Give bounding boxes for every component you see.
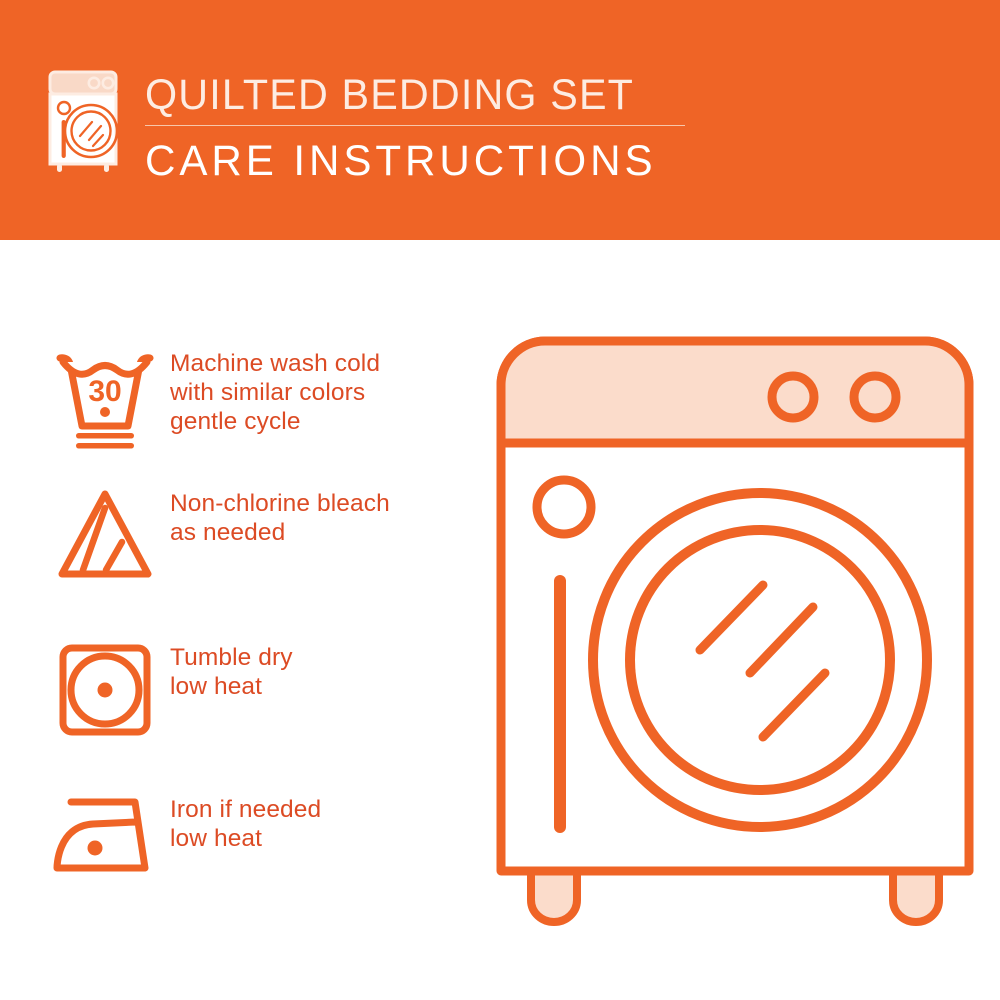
care-text-tumble-dry: Tumble dry low heat [170, 638, 293, 701]
care-row-bleach: Non-chlorine bleach as needed [40, 484, 470, 582]
care-row-machine-wash: 30 Machine wash cold with similar colors… [40, 344, 470, 450]
care-text-machine-wash: Machine wash cold with similar colors ge… [170, 344, 380, 436]
header-banner: QUILTED BEDDING SET CARE INSTRUCTIONS [0, 0, 1000, 240]
washing-machine-icon [44, 66, 128, 178]
care-row-tumble-dry: Tumble dry low heat [40, 638, 470, 740]
iron-low-heat-icon [40, 790, 170, 878]
wash-temperature-value: 30 [88, 375, 121, 408]
page-title-primary: QUILTED BEDDING SET [145, 70, 740, 120]
knob-right [854, 376, 896, 418]
care-line: gentle cycle [170, 407, 380, 436]
care-row-iron: Iron if needed low heat [40, 790, 470, 878]
title-divider [145, 125, 685, 126]
detergent-dial [537, 480, 591, 534]
knob-left [772, 376, 814, 418]
care-text-bleach: Non-chlorine bleach as needed [170, 484, 390, 547]
care-line: with similar colors [170, 378, 380, 407]
care-line: as needed [170, 518, 390, 547]
triangle-non-chlorine-bleach-icon [40, 484, 170, 582]
care-line: low heat [170, 672, 293, 701]
care-line: low heat [170, 824, 321, 853]
tumble-dry-low-heat-icon [40, 638, 170, 740]
care-line: Tumble dry [170, 643, 293, 672]
washing-machine-illustration [485, 325, 985, 945]
wash-tub-30-gentle-icon: 30 [40, 344, 170, 450]
care-line: Machine wash cold [170, 349, 380, 378]
care-line: Iron if needed [170, 795, 321, 824]
page-title-secondary: CARE INSTRUCTIONS [145, 136, 753, 186]
care-text-iron: Iron if needed low heat [170, 790, 321, 853]
care-line: Non-chlorine bleach [170, 489, 390, 518]
header-title-block: QUILTED BEDDING SET CARE INSTRUCTIONS [145, 70, 765, 186]
detergent-drawer-handle [554, 575, 566, 833]
